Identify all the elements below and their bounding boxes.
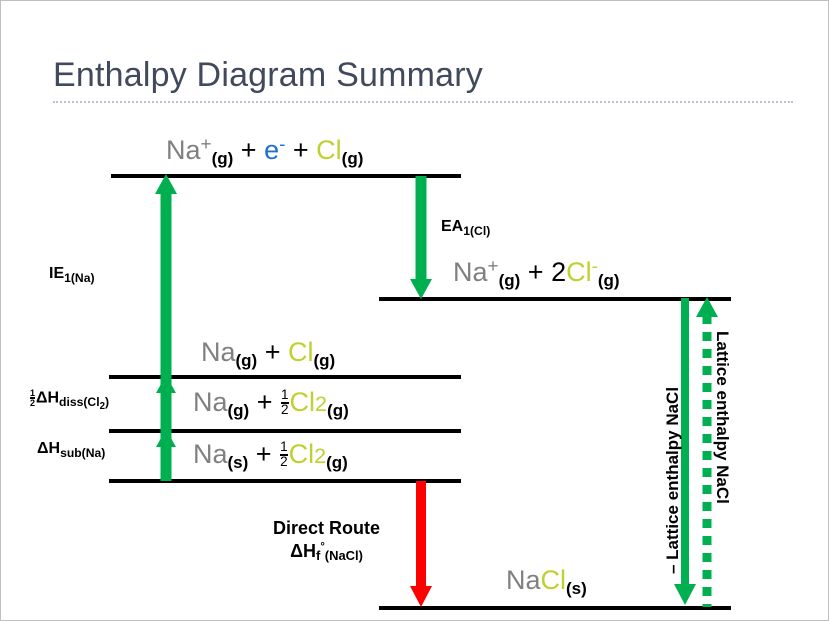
species-label-na-s-half-cl2-g: Na(s) + 12Cl2(g) [193, 441, 348, 469]
ea-arrow [406, 176, 436, 300]
sublimation-label: ΔHsub(Na) [37, 441, 105, 458]
dissociation-subscript-3: ) [105, 395, 109, 409]
species-label-nacl-s: NaCl(s) [506, 567, 587, 594]
dissociation-label: 12ΔHdiss(Cl2) [29, 389, 109, 407]
formation-arrow [407, 481, 435, 609]
ea-symbol: EA [441, 218, 463, 235]
ie-label: IE1(Na) [49, 266, 95, 283]
sublimation-symbol: ΔH [37, 440, 60, 457]
diss-arrow [152, 375, 180, 431]
dissociation-symbol: ΔH [36, 389, 59, 406]
direct-route-title: Direct Route [273, 517, 380, 540]
page-title: Enthalpy Diagram Summary [53, 56, 483, 95]
dissociation-subscript: diss(Cl [59, 395, 100, 409]
ea-subscript: 1(Cl) [463, 224, 490, 238]
lattice-enthalpy-negative-label: – Lattice enthalpy NaCl [663, 387, 683, 574]
dissociation-subscript-2: 2 [100, 401, 105, 412]
enthalpy-diagram-slide: Enthalpy Diagram Summary Na+(g) + e- + C… [0, 0, 829, 621]
species-label-na-cation-electron-cl: Na+(g) + e- + Cl(g) [166, 137, 363, 164]
sublimation-subscript: sub(Na) [60, 446, 105, 460]
ea-label: EA1(Cl) [441, 219, 490, 236]
ie-symbol: IE [49, 265, 64, 282]
title-divider [53, 101, 793, 103]
species-label-na-g-cl-g: Na(g) + Cl(g) [201, 339, 335, 366]
ie-subscript: 1(Na) [64, 271, 94, 285]
species-label-na-g-half-cl2-g: Na(g) + 12Cl2(g) [193, 389, 349, 417]
formation-enthalpy-symbol: ΔHf°(NaCl) [273, 540, 380, 563]
lattice-enthalpy-positive-label: Lattice enthalpy NaCl [712, 331, 732, 504]
sub-arrow [152, 429, 180, 481]
species-label-na-cation-2cl-anion: Na+(g) + 2Cl-(g) [453, 259, 620, 286]
direct-route-label: Direct Route ΔHf°(NaCl) [273, 517, 380, 562]
